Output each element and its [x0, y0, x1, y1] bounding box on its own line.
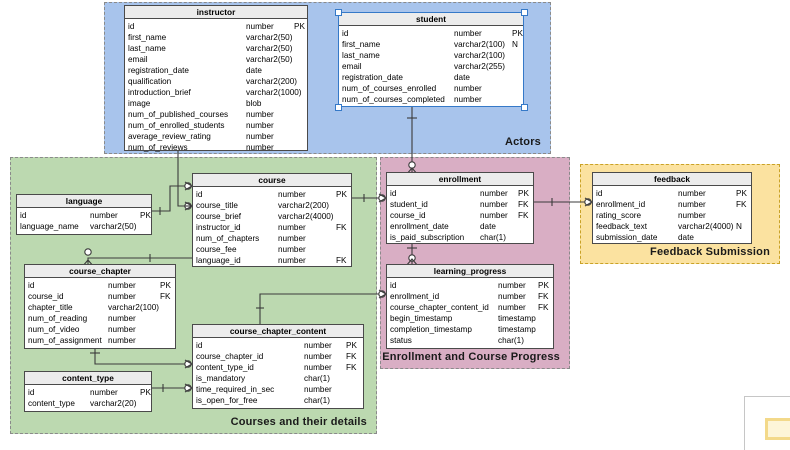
table-row: id number PK: [339, 28, 523, 39]
column-key: FK: [346, 362, 356, 373]
column-type: varchar2(100): [454, 50, 512, 61]
table-row: first_name varchar2(100) N: [339, 39, 523, 50]
column-name: is_open_for_free: [193, 395, 304, 406]
table-row: is_open_for_free char(1): [193, 395, 363, 406]
table-row: id number PK: [593, 188, 751, 199]
entity-language[interactable]: language id number PK language_name varc…: [16, 194, 152, 235]
entity-course-title: course: [193, 174, 351, 187]
column-type: varchar2(100): [454, 39, 512, 50]
column-type: number: [246, 21, 294, 32]
column-name: first_name: [339, 39, 454, 50]
column-type: varchar2(200): [278, 200, 336, 211]
table-row: language_name varchar2(50): [17, 221, 151, 232]
sticky-note-icon[interactable]: [765, 418, 790, 440]
column-type: number: [678, 199, 736, 210]
entity-instructor[interactable]: instructor id number PK first_name varch…: [124, 5, 308, 151]
column-type: varchar2(50): [246, 32, 294, 43]
column-type: varchar2(4000): [678, 221, 736, 232]
column-name: num_of_courses_enrolled: [339, 83, 454, 94]
column-name: student_id: [387, 199, 480, 210]
column-name: content_type_id: [193, 362, 304, 373]
table-row: enrollment_date date: [387, 221, 533, 232]
selection-handle-se[interactable]: [521, 104, 528, 111]
column-type: number: [304, 362, 346, 373]
column-type: varchar2(1000): [246, 87, 294, 98]
column-type: timestamp: [498, 313, 538, 324]
column-key: N: [736, 221, 742, 232]
column-type: number: [678, 188, 736, 199]
table-row: num_of_reviews number: [125, 142, 307, 153]
entity-student[interactable]: student id number PK first_name varchar2…: [338, 12, 524, 107]
column-name: enrollment_id: [593, 199, 678, 210]
entity-feedback-columns: id number PK enrollment_id number FK rat…: [593, 186, 751, 245]
column-key: FK: [538, 302, 548, 313]
entity-course-chapter-title: course_chapter: [25, 265, 175, 278]
table-row: last_name varchar2(50): [125, 43, 307, 54]
column-type: date: [246, 65, 294, 76]
column-name: num_of_enrolled_students: [125, 120, 246, 131]
column-key: PK: [512, 28, 523, 39]
column-name: num_of_published_courses: [125, 109, 246, 120]
column-type: number: [480, 210, 518, 221]
table-row: id number PK: [387, 280, 553, 291]
entity-enrollment-columns: id number PK student_id number FK course…: [387, 186, 533, 245]
column-name: id: [125, 21, 246, 32]
table-row: id number PK: [25, 387, 151, 398]
column-name: course_chapter_content_id: [387, 302, 498, 313]
column-name: num_of_courses_completed: [339, 94, 454, 105]
column-type: number: [454, 83, 512, 94]
column-type: number: [278, 222, 336, 233]
column-type: number: [108, 324, 160, 335]
column-type: number: [90, 210, 140, 221]
entity-language-columns: id number PK language_name varchar2(50): [17, 208, 151, 234]
entity-student-title: student: [339, 13, 523, 26]
column-name: id: [17, 210, 90, 221]
table-row: id number PK: [193, 189, 351, 200]
column-name: course_title: [193, 200, 278, 211]
table-row: image blob: [125, 98, 307, 109]
column-name: email: [125, 54, 246, 65]
entity-course-chapter-content-columns: id number PK course_chapter_id number FK…: [193, 338, 363, 408]
column-name: email: [339, 61, 454, 72]
column-name: introduction_brief: [125, 87, 246, 98]
column-name: course_fee: [193, 244, 278, 255]
column-key: FK: [160, 291, 170, 302]
column-type: number: [90, 387, 140, 398]
entity-course-columns: id number PK course_title varchar2(200) …: [193, 187, 351, 268]
column-type: number: [480, 188, 518, 199]
table-row: num_of_video number: [25, 324, 175, 335]
column-type: varchar2(200): [246, 76, 294, 87]
table-row: id number PK: [17, 210, 151, 221]
column-key: FK: [346, 351, 356, 362]
column-type: date: [678, 232, 736, 243]
column-type: number: [278, 244, 336, 255]
column-name: id: [387, 188, 480, 199]
table-row: first_name varchar2(50): [125, 32, 307, 43]
table-row: id number PK: [387, 188, 533, 199]
column-name: is_paid_subscription: [387, 232, 480, 243]
table-row: course_id number FK: [25, 291, 175, 302]
column-name: id: [193, 189, 278, 200]
column-name: submission_date: [593, 232, 678, 243]
column-type: number: [108, 291, 160, 302]
entity-content-type-title: content_type: [25, 372, 151, 385]
selection-handle-ne[interactable]: [521, 9, 528, 16]
column-name: course_chapter_id: [193, 351, 304, 362]
column-name: id: [25, 387, 90, 398]
column-name: language_id: [193, 255, 278, 266]
column-type: char(1): [304, 373, 346, 384]
column-name: average_review_rating: [125, 131, 246, 142]
column-name: is_mandatory: [193, 373, 304, 384]
column-name: enrollment_id: [387, 291, 498, 302]
column-type: number: [278, 255, 336, 266]
table-row: course_brief varchar2(4000): [193, 211, 351, 222]
column-key: PK: [336, 189, 347, 200]
column-type: number: [498, 280, 538, 291]
column-type: varchar2(100): [108, 302, 160, 313]
column-key: PK: [346, 340, 357, 351]
column-name: instructor_id: [193, 222, 278, 233]
column-name: id: [193, 340, 304, 351]
table-row: is_paid_subscription char(1): [387, 232, 533, 243]
table-row: begin_timestamp timestamp: [387, 313, 553, 324]
column-type: char(1): [304, 395, 346, 406]
column-name: num_of_assignment: [25, 335, 108, 346]
column-type: number: [108, 280, 160, 291]
table-row: num_of_reading number: [25, 313, 175, 324]
table-row: id number PK: [25, 280, 175, 291]
entity-content-type[interactable]: content_type id number PK content_type v…: [24, 371, 152, 412]
column-name: begin_timestamp: [387, 313, 498, 324]
column-name: course_id: [25, 291, 108, 302]
entity-course-chapter-content[interactable]: course_chapter_content id number PK cour…: [192, 324, 364, 409]
entity-instructor-columns: id number PK first_name varchar2(50) las…: [125, 19, 307, 155]
table-row: submission_date date: [593, 232, 751, 243]
column-name: id: [25, 280, 108, 291]
table-row: course_chapter_id number FK: [193, 351, 363, 362]
side-panel[interactable]: [744, 396, 790, 450]
column-type: number: [498, 302, 538, 313]
column-type: number: [278, 189, 336, 200]
table-row: rating_score number: [593, 210, 751, 221]
entity-student-columns: id number PK first_name varchar2(100) N …: [339, 26, 523, 107]
column-key: PK: [160, 280, 171, 291]
column-name: image: [125, 98, 246, 109]
column-type: varchar2(20): [90, 398, 140, 409]
column-name: num_of_chapters: [193, 233, 278, 244]
table-row: num_of_courses_enrolled number: [339, 83, 523, 94]
column-type: date: [480, 221, 518, 232]
entity-feedback-title: feedback: [593, 173, 751, 186]
column-name: language_name: [17, 221, 90, 232]
column-key: FK: [518, 199, 528, 210]
entity-learning-progress-columns: id number PK enrollment_id number FK cou…: [387, 278, 553, 348]
table-row: id number PK: [193, 340, 363, 351]
column-type: timestamp: [498, 324, 538, 335]
column-key: PK: [736, 188, 747, 199]
entity-language-title: language: [17, 195, 151, 208]
selection-handle-nw[interactable]: [335, 9, 342, 16]
table-row: course_id number FK: [387, 210, 533, 221]
column-name: completion_timestamp: [387, 324, 498, 335]
column-type: number: [678, 210, 736, 221]
table-row: num_of_assignment number: [25, 335, 175, 346]
table-row: num_of_published_courses number: [125, 109, 307, 120]
column-key: FK: [336, 255, 346, 266]
column-name: qualification: [125, 76, 246, 87]
column-type: number: [454, 28, 512, 39]
column-type: number: [246, 142, 294, 153]
column-name: last_name: [125, 43, 246, 54]
column-name: registration_date: [125, 65, 246, 76]
table-row: student_id number FK: [387, 199, 533, 210]
column-type: number: [498, 291, 538, 302]
er-diagram-canvas[interactable]: Actors Courses and their details Enrollm…: [0, 0, 790, 450]
column-name: enrollment_date: [387, 221, 480, 232]
table-row: status char(1): [387, 335, 553, 346]
table-row: num_of_enrolled_students number: [125, 120, 307, 131]
column-name: id: [339, 28, 454, 39]
table-row: content_type_id number FK: [193, 362, 363, 373]
table-row: course_title varchar2(200): [193, 200, 351, 211]
column-name: num_of_reading: [25, 313, 108, 324]
table-row: is_mandatory char(1): [193, 373, 363, 384]
column-name: num_of_reviews: [125, 142, 246, 153]
column-type: number: [480, 199, 518, 210]
column-name: id: [387, 280, 498, 291]
column-key: PK: [294, 21, 305, 32]
column-key: PK: [518, 188, 529, 199]
table-row: num_of_courses_completed number: [339, 94, 523, 105]
entity-learning-progress-title: learning_progress: [387, 265, 553, 278]
column-type: varchar2(255): [454, 61, 512, 72]
column-key: PK: [538, 280, 549, 291]
table-row: feedback_text varchar2(4000) N: [593, 221, 751, 232]
table-row: email varchar2(255): [339, 61, 523, 72]
column-type: number: [246, 109, 294, 120]
table-row: id number PK: [125, 21, 307, 32]
column-key: FK: [736, 199, 746, 210]
column-type: number: [454, 94, 512, 105]
column-type: char(1): [480, 232, 518, 243]
column-key: PK: [140, 210, 151, 221]
entity-instructor-title: instructor: [125, 6, 307, 19]
entity-course-chapter-columns: id number PK course_id number FK chapter…: [25, 278, 175, 348]
table-row: enrollment_id number FK: [593, 199, 751, 210]
table-row: qualification varchar2(200): [125, 76, 307, 87]
table-row: introduction_brief varchar2(1000): [125, 87, 307, 98]
column-name: first_name: [125, 32, 246, 43]
column-type: number: [108, 335, 160, 346]
column-name: rating_score: [593, 210, 678, 221]
table-row: registration_date date: [125, 65, 307, 76]
column-name: course_id: [387, 210, 480, 221]
column-type: number: [246, 131, 294, 142]
column-type: number: [246, 120, 294, 131]
table-row: average_review_rating number: [125, 131, 307, 142]
column-type: varchar2(50): [246, 43, 294, 54]
column-name: content_type: [25, 398, 90, 409]
table-row: time_required_in_sec number: [193, 384, 363, 395]
table-row: last_name varchar2(100): [339, 50, 523, 61]
column-type: number: [108, 313, 160, 324]
column-type: blob: [246, 98, 294, 109]
column-key: N: [512, 39, 518, 50]
entity-learning-progress[interactable]: learning_progress id number PK enrollmen…: [386, 264, 554, 349]
table-row: language_id number FK: [193, 255, 351, 266]
column-type: varchar2(4000): [278, 211, 336, 222]
entity-feedback[interactable]: feedback id number PK enrollment_id numb…: [592, 172, 752, 244]
table-row: content_type varchar2(20): [25, 398, 151, 409]
column-type: number: [304, 340, 346, 351]
column-name: feedback_text: [593, 221, 678, 232]
column-type: varchar2(50): [90, 221, 140, 232]
column-name: last_name: [339, 50, 454, 61]
table-row: course_fee number: [193, 244, 351, 255]
column-type: varchar2(50): [246, 54, 294, 65]
entity-enrollment[interactable]: enrollment id number PK student_id numbe…: [386, 172, 534, 244]
selection-handle-sw[interactable]: [335, 104, 342, 111]
table-row: course_chapter_content_id number FK: [387, 302, 553, 313]
entity-enrollment-title: enrollment: [387, 173, 533, 186]
column-key: FK: [336, 222, 346, 233]
table-row: email varchar2(50): [125, 54, 307, 65]
table-row: completion_timestamp timestamp: [387, 324, 553, 335]
entity-course[interactable]: course id number PK course_title varchar…: [192, 173, 352, 267]
column-name: num_of_video: [25, 324, 108, 335]
column-type: char(1): [498, 335, 538, 346]
entity-course-chapter-content-title: course_chapter_content: [193, 325, 363, 338]
column-name: course_brief: [193, 211, 278, 222]
column-key: FK: [518, 210, 528, 221]
column-name: id: [593, 188, 678, 199]
column-name: time_required_in_sec: [193, 384, 304, 395]
entity-content-type-columns: id number PK content_type varchar2(20): [25, 385, 151, 411]
table-row: registration_date date: [339, 72, 523, 83]
column-name: registration_date: [339, 72, 454, 83]
column-type: number: [304, 384, 346, 395]
column-type: number: [304, 351, 346, 362]
column-name: chapter_title: [25, 302, 108, 313]
entity-course-chapter[interactable]: course_chapter id number PK course_id nu…: [24, 264, 176, 349]
table-row: instructor_id number FK: [193, 222, 351, 233]
column-type: number: [278, 233, 336, 244]
column-key: PK: [140, 387, 151, 398]
column-name: status: [387, 335, 498, 346]
table-row: chapter_title varchar2(100): [25, 302, 175, 313]
column-type: date: [454, 72, 512, 83]
table-row: num_of_chapters number: [193, 233, 351, 244]
column-key: FK: [538, 291, 548, 302]
table-row: enrollment_id number FK: [387, 291, 553, 302]
